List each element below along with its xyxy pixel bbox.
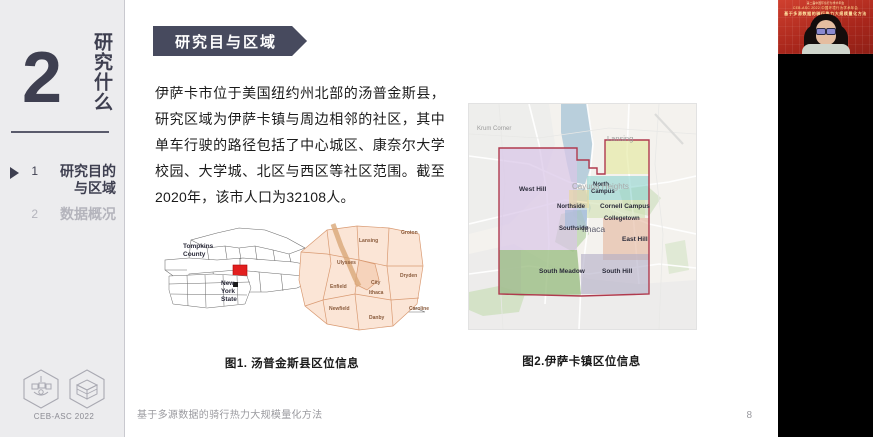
sidebar-item-1-label-line2: 与区域 [43,180,116,197]
fig1-label-enfield: Enfield [330,284,347,290]
slide-page-number: 8 [746,410,752,421]
fig2-label-ithaca: Ithaca [582,224,605,234]
slide-footer-note: 基于多源数据的骑行热力大规模量化方法 [137,406,322,421]
fig1-label-dryden: Dryden [400,273,417,279]
fig1-label-caroline: Caroline [409,306,429,312]
logo-caption: CEB-ASC 2022 [16,412,112,421]
fig2-label-northside: Northside [557,204,585,210]
body-paragraph: 伊萨卡市位于美国纽约州北部的汤普金斯县，研究区域为伊萨卡镇与周边相邻的社区，其中… [155,80,445,210]
fig2-label-lansing: Lansing [607,134,633,143]
sidebar-divider-rule [11,131,109,133]
fig1-label-ithaca: Ithaca [369,290,383,296]
slide-sidebar: 2 研究什么 1 研究目的 与区域 2 [0,0,124,437]
fig1-label-tompkins: Tompkins [183,243,213,250]
presentation-slide: 2 研究什么 1 研究目的 与区域 2 [0,0,778,437]
fig2-label-cornell-campus: Cornell Campus [600,203,650,210]
webcam-video[interactable]: 第二届中国环境行为学术年会 CEB-ASC 2022 中国环境行为学术年会 基于… [778,0,873,54]
fig1-label-newyork: New [221,280,234,287]
sidebar-item-1[interactable]: 1 研究目的 与区域 [0,163,124,197]
fig2-label-collegetown: Collegetown [604,216,640,222]
section-banner: 研究目与区域 [153,26,307,56]
figure-1-caption: 图1. 汤普金斯县区位信息 [147,355,437,371]
fig2-label-west-hill: West Hill [519,186,546,193]
fig1-label-lansing: Lansing [359,238,378,244]
fig2-label-south-hill: South Hill [602,268,632,275]
triangle-right-icon [10,167,19,179]
chapter-header: 2 研究什么 [0,22,124,122]
webcam-overlay-line2: CEB-ASC 2022 中国环境行为学术年会 [778,5,873,10]
figure-2-image: Krum Corner Lansing West Hill North Camp… [468,103,697,330]
inactive-marker [10,206,24,210]
hexagon-people-icon [20,368,62,410]
slide-content: 研究目与区域 伊萨卡市位于美国纽约州北部的汤普金斯县，研究区域为伊萨卡镇与周边相… [125,0,778,437]
fig1-label-groton: Groton [401,230,418,236]
speaker-avatar [798,14,854,54]
slide-nav: 1 研究目的 与区域 2 数据概况 [0,163,124,232]
hexagon-cube-icon [66,368,108,410]
fig1-label-state: State [221,296,237,303]
sidebar-item-1-label: 研究目的 与区域 [43,163,116,197]
sidebar-item-2[interactable]: 2 数据概况 [0,206,124,223]
sidebar-item-2-label: 数据概况 [43,206,116,223]
fig1-label-danby: Danby [369,315,384,321]
glasses-icon [816,28,836,33]
fig1-label-york: York [221,288,235,295]
fig2-label-krum-corner: Krum Corner [477,126,511,132]
figure-1-image: Tompkins County New York State [147,218,437,338]
fig1-label-city: City [371,280,380,286]
screen: 2 研究什么 1 研究目的 与区域 2 [0,0,873,437]
active-marker [10,163,24,179]
sidebar-logo: CEB-ASC 2022 [16,368,112,421]
webcam-panel: 第二届中国环境行为学术年会 CEB-ASC 2022 中国环境行为学术年会 基于… [778,0,873,437]
sidebar-item-1-label-line1: 研究目的 [43,163,116,180]
fig1-label-ulysses: Ulysses [337,260,356,266]
fig1-label-county: County [183,251,205,258]
sidebar-item-2-index: 2 [24,206,43,223]
figure-2-caption: 图2.伊萨卡镇区位信息 [468,353,695,369]
fig2-label-east-hill: East Hill [622,236,648,243]
fig1-label-newfield: Newfield [329,306,350,312]
fig2-label-cayuga-heights: Cayuga Heights [572,182,629,191]
sidebar-item-1-index: 1 [24,163,43,180]
fig2-label-south-meadow: South Meadow [539,268,585,275]
chapter-title-vertical: 研究什么 [90,32,112,112]
chapter-number: 2 [22,42,60,114]
